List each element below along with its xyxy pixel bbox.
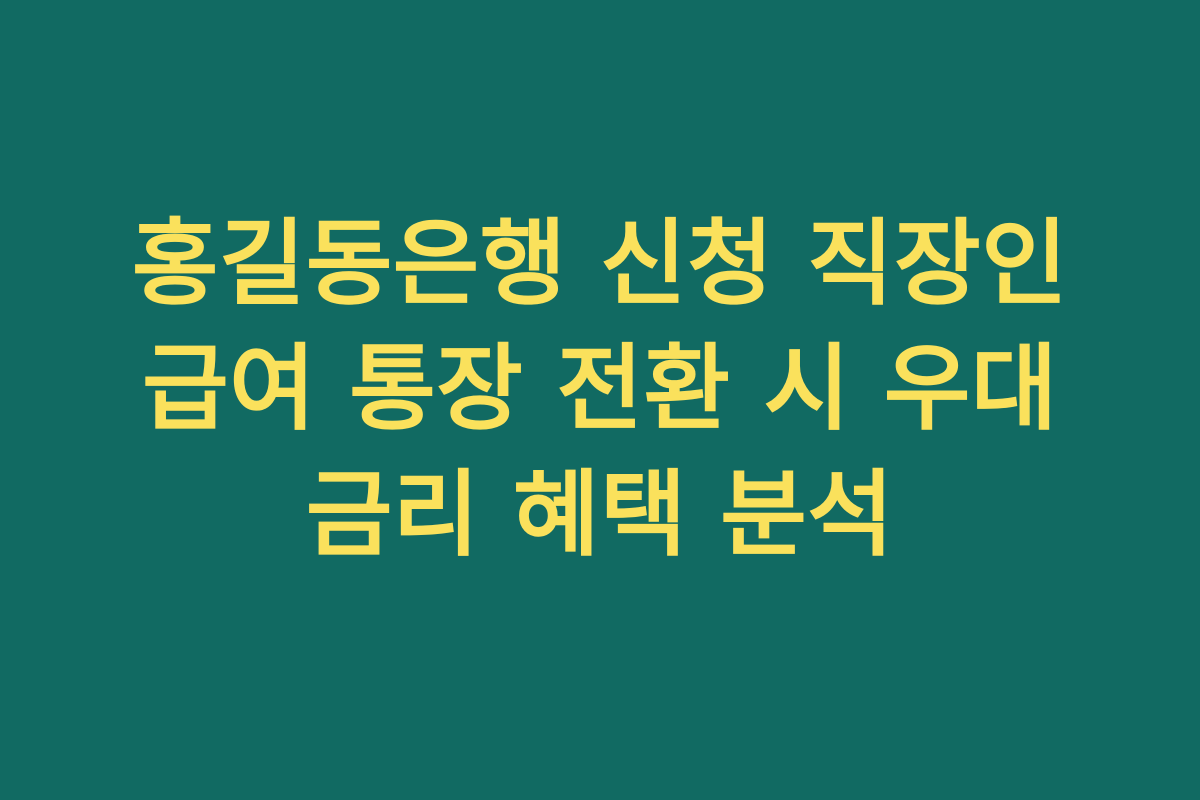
banner-title-line-3: 금리 혜택 분석 (70, 453, 1130, 578)
title-banner: 홍길동은행 신청 직장인 급여 통장 전환 시 우대 금리 혜택 분석 (0, 0, 1200, 800)
banner-title-line-1: 홍길동은행 신청 직장인 (70, 202, 1130, 327)
banner-title-block: 홍길동은행 신청 직장인 급여 통장 전환 시 우대 금리 혜택 분석 (70, 202, 1130, 577)
banner-title-line-2: 급여 통장 전환 시 우대 (70, 327, 1130, 452)
